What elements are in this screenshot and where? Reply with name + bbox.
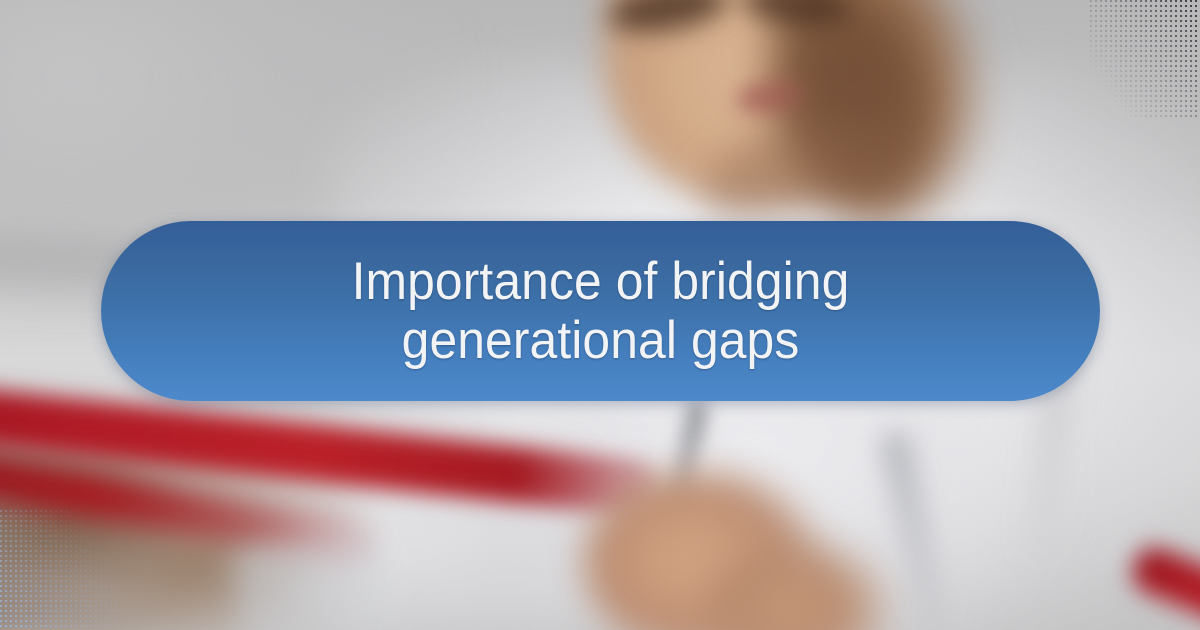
title-pill: Importance of bridging generational gaps <box>101 221 1100 401</box>
dot-grid-top-right-icon <box>1090 0 1200 118</box>
graphic-canvas: Importance of bridging generational gaps <box>0 0 1200 630</box>
page-title: Importance of bridging generational gaps <box>197 252 1004 371</box>
dot-grid-bottom-left-icon <box>0 510 118 630</box>
